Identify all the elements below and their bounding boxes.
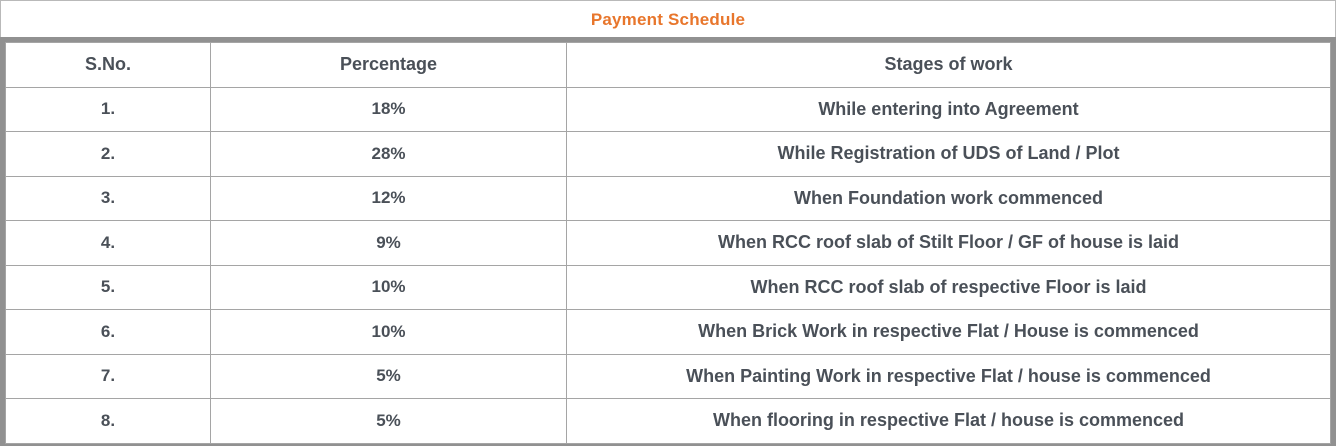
page-title: Payment Schedule	[591, 11, 745, 28]
cell-sno: 7.	[6, 354, 211, 399]
table-body: 1. 18% While entering into Agreement 2. …	[6, 87, 1331, 443]
cell-stage: When flooring in respective Flat / house…	[567, 399, 1331, 444]
cell-stage: When RCC roof slab of Stilt Floor / GF o…	[567, 221, 1331, 266]
table-row: 6. 10% When Brick Work in respective Fla…	[6, 310, 1331, 355]
cell-stage: When Brick Work in respective Flat / Hou…	[567, 310, 1331, 355]
cell-sno: 6.	[6, 310, 211, 355]
table-row: 4. 9% When RCC roof slab of Stilt Floor …	[6, 221, 1331, 266]
table-row: 3. 12% When Foundation work commenced	[6, 176, 1331, 221]
cell-stage: When Painting Work in respective Flat / …	[567, 354, 1331, 399]
cell-sno: 8.	[6, 399, 211, 444]
cell-percentage: 9%	[211, 221, 567, 266]
table-row: 8. 5% When flooring in respective Flat /…	[6, 399, 1331, 444]
table-row: 5. 10% When RCC roof slab of respective …	[6, 265, 1331, 310]
document-title-bar: Payment Schedule	[0, 0, 1336, 37]
payment-schedule-document: Payment Schedule S.No. Percentage Stages…	[0, 0, 1336, 446]
table-row: 7. 5% When Painting Work in respective F…	[6, 354, 1331, 399]
column-header-sno: S.No.	[6, 43, 211, 88]
cell-percentage: 10%	[211, 310, 567, 355]
cell-sno: 1.	[6, 87, 211, 132]
cell-stage: When Foundation work commenced	[567, 176, 1331, 221]
column-header-stages-of-work: Stages of work	[567, 43, 1331, 88]
cell-stage: While entering into Agreement	[567, 87, 1331, 132]
table-header-row: S.No. Percentage Stages of work	[6, 43, 1331, 88]
cell-percentage: 12%	[211, 176, 567, 221]
cell-percentage: 18%	[211, 87, 567, 132]
payment-schedule-table-frame: S.No. Percentage Stages of work 1. 18% W…	[0, 37, 1336, 446]
cell-sno: 5.	[6, 265, 211, 310]
column-header-percentage: Percentage	[211, 43, 567, 88]
cell-percentage: 10%	[211, 265, 567, 310]
payment-schedule-table: S.No. Percentage Stages of work 1. 18% W…	[5, 42, 1331, 444]
cell-percentage: 5%	[211, 354, 567, 399]
table-header: S.No. Percentage Stages of work	[6, 43, 1331, 88]
cell-sno: 3.	[6, 176, 211, 221]
cell-stage: When RCC roof slab of respective Floor i…	[567, 265, 1331, 310]
table-row: 1. 18% While entering into Agreement	[6, 87, 1331, 132]
cell-sno: 2.	[6, 132, 211, 177]
table-row: 2. 28% While Registration of UDS of Land…	[6, 132, 1331, 177]
cell-stage: While Registration of UDS of Land / Plot	[567, 132, 1331, 177]
cell-percentage: 28%	[211, 132, 567, 177]
cell-sno: 4.	[6, 221, 211, 266]
cell-percentage: 5%	[211, 399, 567, 444]
